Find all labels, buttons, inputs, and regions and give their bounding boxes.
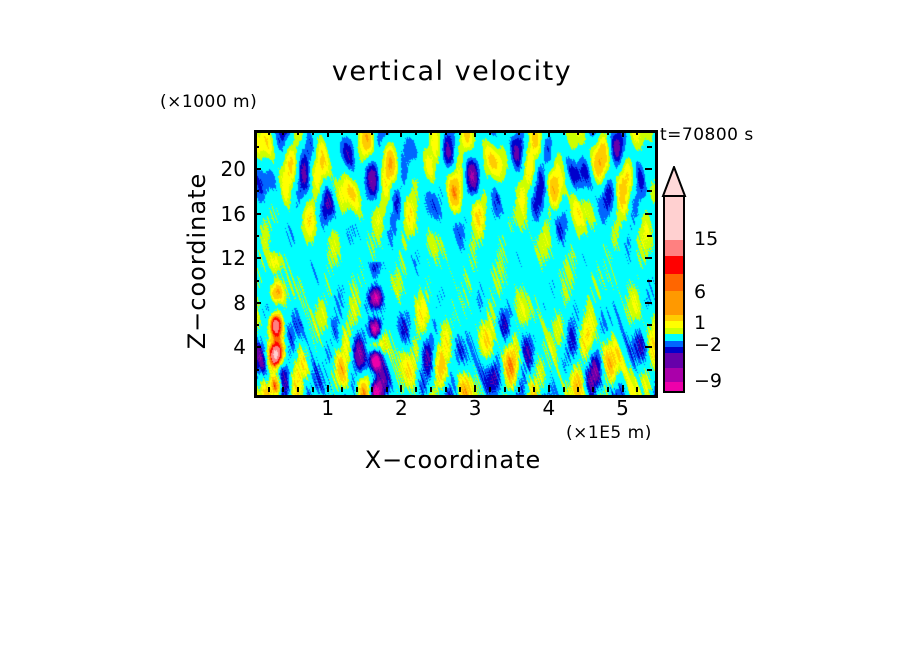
- x-minor-tick-mark: [563, 387, 565, 392]
- y-minor-tick-mark: [647, 280, 652, 282]
- x-minor-tick-mark: [386, 130, 388, 135]
- x-minor-tick-mark: [533, 130, 535, 135]
- x-minor-tick-mark: [504, 130, 506, 135]
- y-tick-label: 20: [216, 157, 246, 181]
- x-tick-mark: [548, 385, 550, 392]
- colorbar-tick-label: 6: [694, 281, 706, 303]
- x-minor-tick-mark: [415, 387, 417, 392]
- x-minor-tick-mark: [371, 387, 373, 392]
- y-minor-tick-mark: [254, 280, 259, 282]
- y-minor-tick-mark: [647, 324, 652, 326]
- y-minor-tick-mark: [647, 146, 652, 148]
- x-minor-tick-mark: [312, 130, 314, 135]
- x-minor-tick-mark: [356, 130, 358, 135]
- time-annotation: t=70800 s: [660, 125, 754, 145]
- x-minor-tick-mark: [504, 387, 506, 392]
- colorbar-band: [665, 353, 683, 369]
- colorbar-band: [665, 256, 683, 275]
- x-minor-tick-mark: [518, 130, 520, 135]
- colorbar-band: [665, 240, 683, 256]
- y-tick-mark: [645, 346, 652, 348]
- y-tick-label: 4: [216, 335, 246, 359]
- x-tick-label: 1: [321, 396, 334, 420]
- x-tick-mark: [400, 130, 402, 137]
- y-minor-tick-mark: [647, 369, 652, 371]
- y-tick-mark: [254, 302, 261, 304]
- y-minor-tick-mark: [254, 324, 259, 326]
- x-tick-label: 5: [616, 396, 629, 420]
- x-tick-mark: [474, 385, 476, 392]
- y-tick-mark: [645, 302, 652, 304]
- x-minor-tick-mark: [607, 130, 609, 135]
- x-tick-label: 4: [542, 396, 555, 420]
- x-minor-tick-mark: [356, 387, 358, 392]
- x-minor-tick-mark: [607, 387, 609, 392]
- x-minor-tick-mark: [268, 387, 270, 392]
- figure-canvas: vertical velocity (×1000 m) (×1E5 m) t=7…: [0, 0, 904, 654]
- x-minor-tick-mark: [592, 130, 594, 135]
- y-tick-mark: [645, 168, 652, 170]
- y-tick-label: 16: [216, 202, 246, 226]
- x-minor-tick-mark: [312, 387, 314, 392]
- y-minor-tick-mark: [647, 235, 652, 237]
- x-tick-mark: [400, 385, 402, 392]
- x-tick-mark: [548, 130, 550, 137]
- x-minor-tick-mark: [577, 130, 579, 135]
- x-minor-tick-mark: [592, 387, 594, 392]
- x-minor-tick-mark: [430, 387, 432, 392]
- y-minor-tick-mark: [254, 235, 259, 237]
- colorbar: [663, 195, 685, 393]
- x-minor-tick-mark: [445, 387, 447, 392]
- colorbar-tick-label: −9: [694, 370, 722, 392]
- x-minor-tick-mark: [297, 130, 299, 135]
- x-tick-mark: [474, 130, 476, 137]
- colorbar-tick-label: 15: [694, 228, 718, 250]
- x-minor-tick-mark: [518, 387, 520, 392]
- colorbar-band: [665, 334, 683, 341]
- x-minor-tick-mark: [430, 130, 432, 135]
- x-minor-tick-mark: [577, 387, 579, 392]
- x-axis-label: X−coordinate: [254, 446, 652, 474]
- x-minor-tick-mark: [282, 387, 284, 392]
- x-axis-unit-label: (×1E5 m): [566, 423, 652, 443]
- x-minor-tick-mark: [563, 130, 565, 135]
- x-minor-tick-mark: [636, 387, 638, 392]
- colorbar-band: [665, 382, 683, 391]
- y-minor-tick-mark: [254, 369, 259, 371]
- y-minor-tick-mark: [647, 190, 652, 192]
- x-minor-tick-mark: [533, 387, 535, 392]
- x-minor-tick-mark: [341, 130, 343, 135]
- colorbar-band: [665, 315, 683, 322]
- x-minor-tick-mark: [445, 130, 447, 135]
- x-minor-tick-mark: [636, 130, 638, 135]
- y-minor-tick-mark: [254, 190, 259, 192]
- x-tick-mark: [327, 130, 329, 137]
- y-tick-mark: [645, 213, 652, 215]
- x-minor-tick-mark: [371, 130, 373, 135]
- velocity-field-heatmap: [257, 133, 655, 395]
- y-tick-mark: [254, 257, 261, 259]
- x-minor-tick-mark: [489, 387, 491, 392]
- y-tick-mark: [254, 213, 261, 215]
- colorbar-band: [665, 321, 683, 328]
- y-tick-mark: [254, 346, 261, 348]
- x-minor-tick-mark: [297, 387, 299, 392]
- x-minor-tick-mark: [459, 130, 461, 135]
- y-tick-mark: [645, 257, 652, 259]
- chart-title: vertical velocity: [0, 56, 904, 87]
- x-tick-label: 2: [395, 396, 408, 420]
- x-tick-mark: [327, 385, 329, 392]
- plot-area: [254, 130, 658, 398]
- x-tick-mark: [622, 385, 624, 392]
- y-tick-label: 8: [216, 291, 246, 315]
- y-axis-unit-label: (×1000 m): [160, 92, 257, 112]
- x-minor-tick-mark: [282, 130, 284, 135]
- x-minor-tick-mark: [489, 130, 491, 135]
- y-minor-tick-mark: [254, 146, 259, 148]
- x-tick-label: 3: [469, 396, 482, 420]
- x-minor-tick-mark: [268, 130, 270, 135]
- y-tick-mark: [254, 168, 261, 170]
- colorbar-band: [665, 274, 683, 291]
- x-tick-mark: [622, 130, 624, 137]
- x-minor-tick-mark: [459, 387, 461, 392]
- colorbar-band: [665, 291, 683, 315]
- x-minor-tick-mark: [341, 387, 343, 392]
- y-axis-label: Z−coordinate: [183, 130, 213, 392]
- x-minor-tick-mark: [386, 387, 388, 392]
- y-tick-label: 12: [216, 246, 246, 270]
- x-minor-tick-mark: [415, 130, 417, 135]
- colorbar-band: [665, 197, 683, 240]
- colorbar-band: [665, 368, 683, 382]
- colorbar-tick-label: 1: [694, 312, 706, 334]
- colorbar-tick-label: −2: [694, 334, 722, 356]
